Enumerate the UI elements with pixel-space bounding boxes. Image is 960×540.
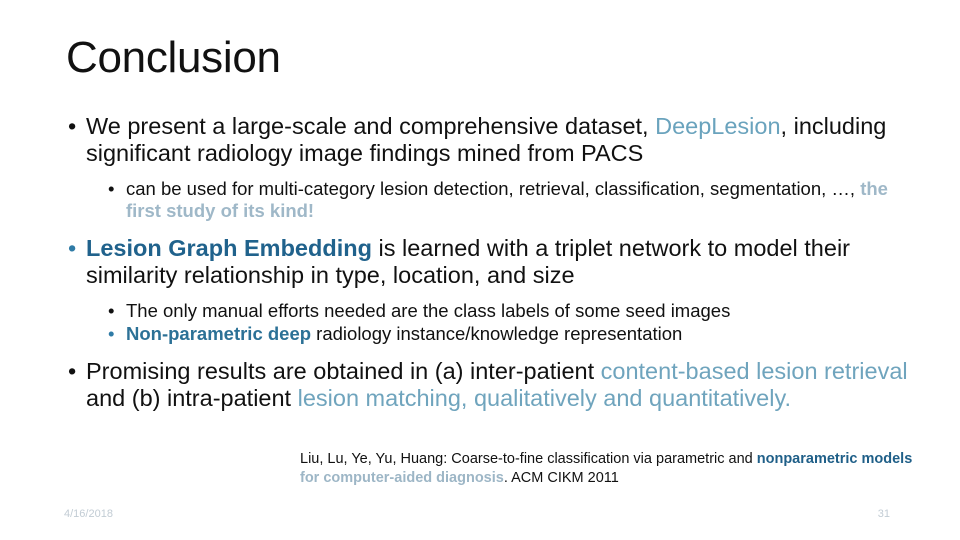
footer-date: 4/16/2018 — [64, 508, 113, 520]
bullet-run-highlight: DeepLesion — [655, 113, 780, 139]
citation-block: Liu, Lu, Ye, Yu, Huang: Coarse-to-fine c… — [300, 450, 920, 488]
sub-bullet-item: • can be used for multi-category lesion … — [62, 178, 912, 222]
bullet-run-text: radiology instance/knowledge representat… — [311, 323, 682, 344]
citation-authors-title: Liu, Lu, Ye, Yu, Huang: Coarse-to-fine c… — [300, 451, 757, 467]
bullet-run-highlight: Non-parametric deep — [126, 323, 311, 344]
sub-bullet-item: • The only manual efforts needed are the… — [62, 300, 912, 322]
slide-canvas: Conclusion • We present a large-scale an… — [0, 0, 960, 540]
slide-body: • We present a large-scale and comprehen… — [62, 113, 912, 414]
bullet-item: • Lesion Graph Embedding is learned with… — [62, 235, 912, 289]
bullet-run-text: and (b) intra-patient — [86, 385, 298, 411]
bullet-run-highlight: lesion matching, qualitatively and quant… — [298, 385, 791, 411]
bullet-dot-icon: • — [108, 178, 114, 200]
bullet-item: • We present a large-scale and comprehen… — [62, 113, 912, 167]
bullet-run-text: Promising results are obtained in (a) in… — [86, 358, 601, 384]
bullet-dot-icon: • — [68, 358, 76, 385]
bullet-dot-icon: • — [108, 300, 114, 322]
bullet-run-text: can be used for multi-category lesion de… — [126, 178, 860, 199]
citation-highlight-primary: nonparametric models — [757, 451, 913, 467]
sub-bullet-item: • Non-parametric deep radiology instance… — [62, 323, 912, 345]
bullet-dot-icon: • — [108, 323, 114, 345]
bullet-item: • Promising results are obtained in (a) … — [62, 358, 912, 412]
bullet-run-text: We present a large-scale and comprehensi… — [86, 113, 655, 139]
bullet-dot-icon: • — [68, 235, 76, 262]
citation-highlight-secondary: for computer-aided diagnosis — [300, 470, 504, 486]
bullet-dot-icon: • — [68, 113, 76, 140]
page-title: Conclusion — [66, 34, 281, 82]
bullet-run-highlight: content-based lesion retrieval — [601, 358, 908, 384]
bullet-run-text: The only manual efforts needed are the c… — [126, 300, 730, 321]
footer-page-number: 31 — [878, 508, 890, 520]
bullet-run-highlight: Lesion Graph Embedding — [86, 235, 372, 261]
citation-venue: . ACM CIKM 2011 — [504, 470, 619, 486]
